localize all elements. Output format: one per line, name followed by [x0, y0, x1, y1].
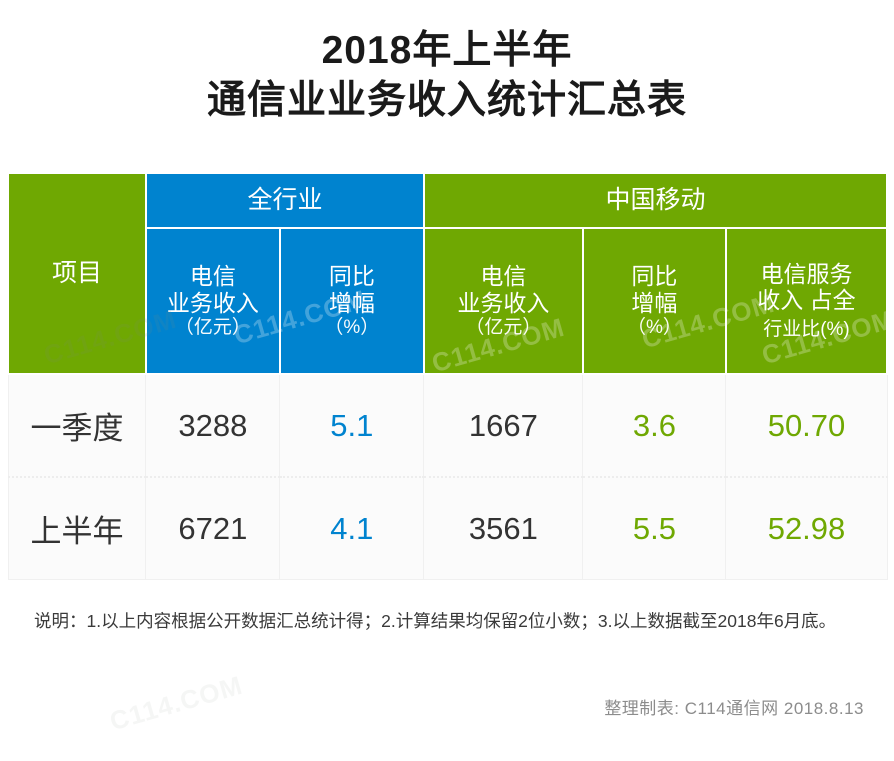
header-cmcc-share-line2: 收入 占全: [757, 287, 855, 313]
cell-h1-cmcc-share: 52.98: [726, 477, 887, 580]
header-cmcc-growth: 同比 增幅 （%）: [583, 228, 726, 374]
header-industry-growth: 同比 增幅 （%）: [280, 228, 424, 374]
header-industry-revenue: 电信 业务收入 （亿元）: [146, 228, 280, 374]
statistics-table: 项目 全行业 中国移动 电信 业务收入 （亿元） 同比 增幅 （%） 电信: [7, 172, 888, 580]
title-line-2: 通信业业务收入统计汇总表: [0, 76, 894, 126]
header-cmcc-share-line3: 行业比(%): [763, 319, 850, 340]
table-notes: 说明：1.以上内容根据公开数据汇总统计得；2.计算结果均保留2位小数；3.以上数…: [34, 604, 870, 639]
header-industry-growth-unit: （%）: [281, 317, 423, 339]
page-title: 2018年上半年 通信业业务收入统计汇总表: [0, 0, 894, 126]
cell-q1-industry-growth: 5.1: [280, 374, 424, 477]
header-group-industry: 全行业: [146, 173, 424, 228]
header-cmcc-revenue: 电信 业务收入 （亿元）: [424, 228, 583, 374]
header-industry-growth-line1: 同比: [329, 263, 375, 289]
table-row: 上半年 6721 4.1 3561 5.5 52.98: [8, 477, 887, 580]
table-row: 一季度 3288 5.1 1667 3.6 50.70: [8, 374, 887, 477]
header-industry-revenue-line2: 业务收入: [167, 290, 259, 316]
cell-h1-cmcc-growth: 5.5: [583, 477, 726, 580]
header-cmcc-share-line1: 电信服务: [760, 261, 852, 287]
header-cmcc-growth-line2: 增幅: [631, 290, 677, 316]
watermark: C114.COM: [106, 670, 246, 737]
header-industry-revenue-line1: 电信: [190, 263, 236, 289]
header-cmcc-share: 电信服务 收入 占全 行业比(%): [726, 228, 887, 374]
row-label-q1: 一季度: [8, 374, 146, 477]
credit-line: 整理制表: C114通信网 2018.8.13: [604, 694, 864, 719]
cell-h1-cmcc-revenue: 3561: [424, 477, 583, 580]
cell-q1-cmcc-share: 50.70: [726, 374, 887, 477]
cell-h1-industry-growth: 4.1: [280, 477, 424, 580]
header-item: 项目: [8, 173, 146, 374]
cell-q1-industry-revenue: 3288: [146, 374, 280, 477]
header-cmcc-growth-unit: （%）: [584, 317, 725, 339]
header-cmcc-growth-line1: 同比: [631, 263, 677, 289]
header-cmcc-revenue-line2: 业务收入: [457, 290, 549, 316]
header-industry-growth-line2: 增幅: [329, 290, 375, 316]
title-line-1: 2018年上半年: [0, 26, 894, 76]
header-group-cmcc: 中国移动: [424, 173, 887, 228]
cell-q1-cmcc-revenue: 1667: [424, 374, 583, 477]
header-industry-revenue-unit: （亿元）: [147, 317, 279, 339]
row-label-h1: 上半年: [8, 477, 146, 580]
cell-h1-industry-revenue: 6721: [146, 477, 280, 580]
cell-q1-cmcc-growth: 3.6: [583, 374, 726, 477]
header-cmcc-revenue-unit: （亿元）: [425, 317, 582, 339]
header-cmcc-revenue-line1: 电信: [480, 263, 526, 289]
